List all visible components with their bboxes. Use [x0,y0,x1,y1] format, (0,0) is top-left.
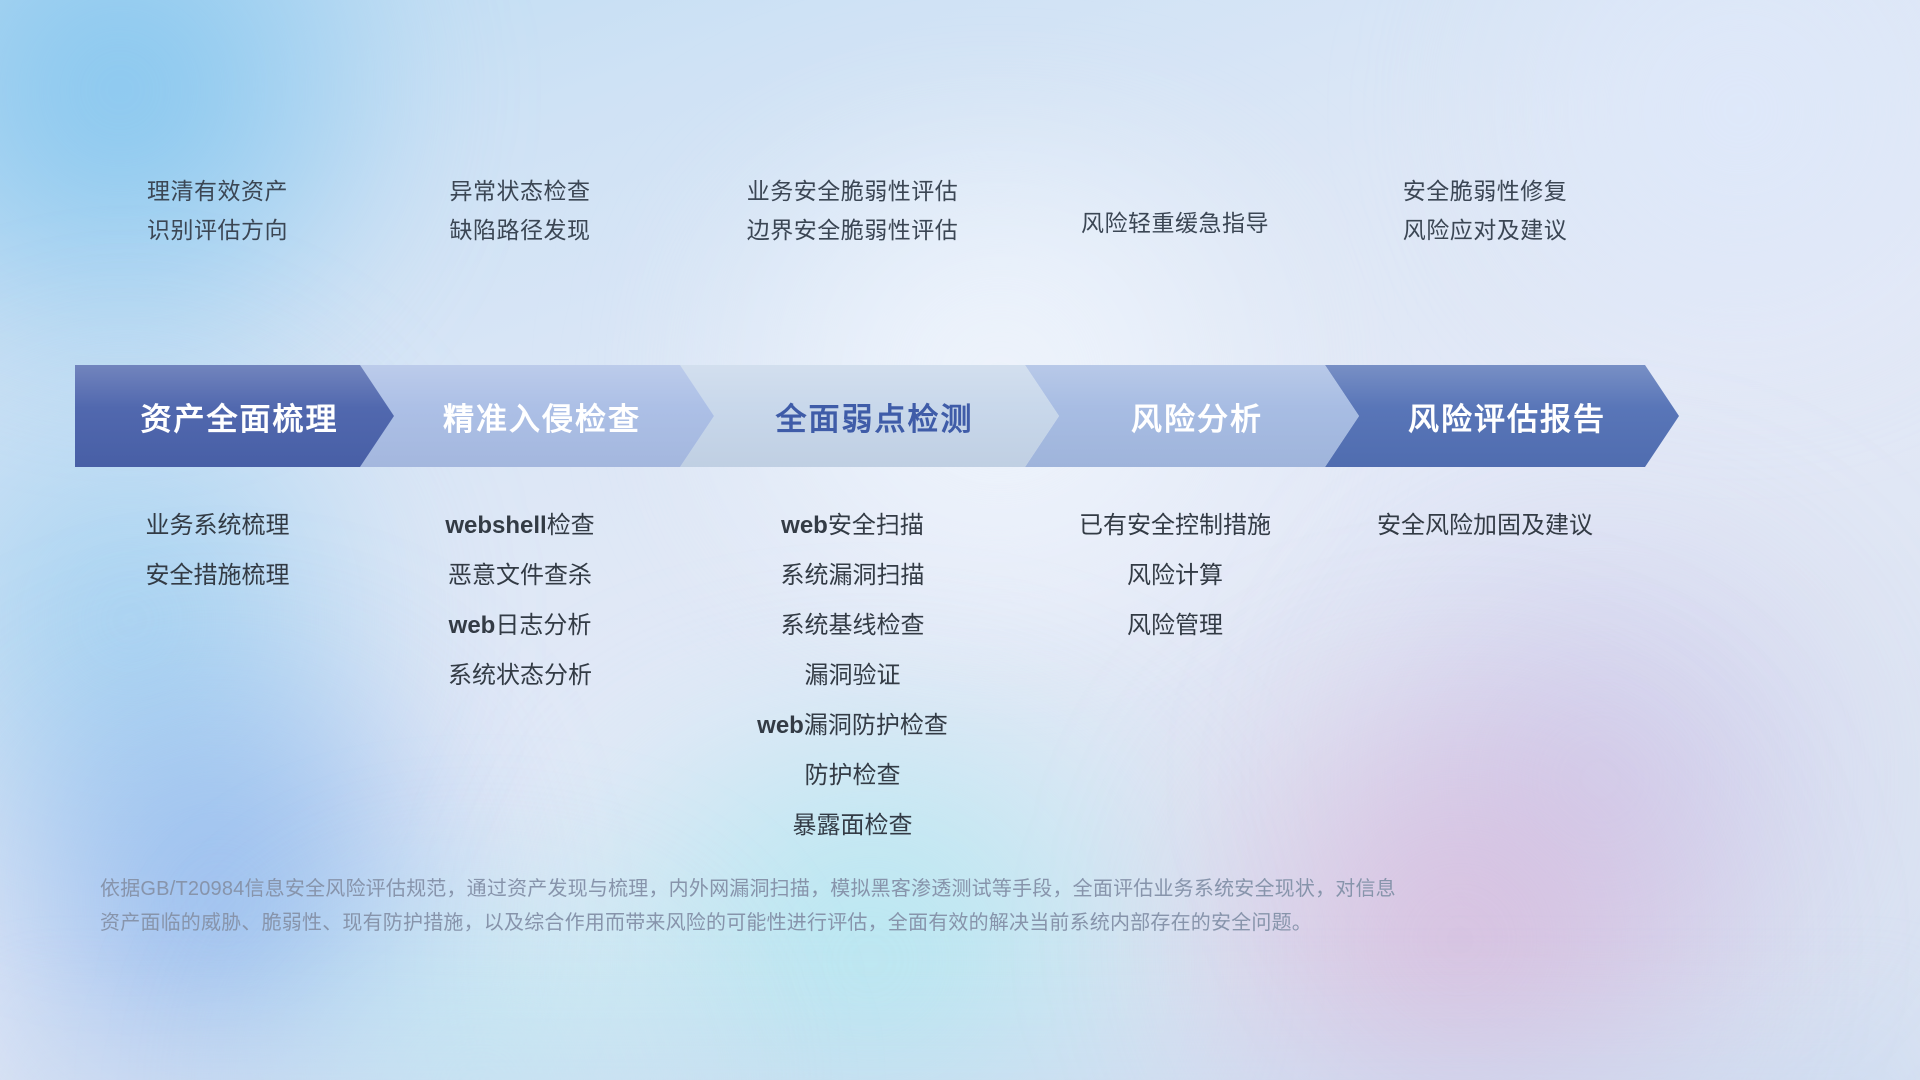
top-item: 边界安全脆弱性评估 [747,219,959,242]
bottom-item-text: 漏洞防护检查 [804,712,948,739]
stage-label: 精准入侵检查 [443,394,641,439]
top-item: 业务安全脆弱性评估 [747,180,959,203]
bottom-item: 业务系统梳理 [146,514,290,538]
bottom-item: 已有安全控制措施 [1079,514,1271,538]
bottom-item-text: 检查 [547,512,595,539]
footer-line-2: 资产面临的威胁、脆弱性、现有防护措施，以及综合作用而带来风险的可能性进行评估，全… [100,906,1610,940]
bottom-item-latin: web [449,612,496,639]
top-items-risk-analysis: 风险轻重缓急指导 [1025,176,1325,286]
process-diagram: 理清有效资产识别评估方向异常状态检查缺陷路径发现业务安全脆弱性评估边界安全脆弱性… [0,0,1920,1080]
top-item: 风险轻重缓急指导 [1081,212,1269,235]
bottom-item: web漏洞防护检查 [757,714,948,738]
bottom-item-text: 安全扫描 [828,512,924,539]
bottom-item-latin: web [757,712,804,739]
bottom-item-latin: webshell [445,512,546,539]
top-items-intrusion-check: 异常状态检查缺陷路径发现 [360,176,680,286]
bottom-item: 暴露面检查 [793,814,913,838]
bottom-items-asset-inventory: 业务系统梳理安全措施梳理 [75,508,360,588]
bottom-item: 安全风险加固及建议 [1377,514,1593,538]
stage-chevron-risk-report[interactable]: 风险评估报告 [1325,365,1679,467]
top-items-row: 理清有效资产识别评估方向异常状态检查缺陷路径发现业务安全脆弱性评估边界安全脆弱性… [75,176,1845,286]
stage-label: 资产全面梳理 [141,394,339,439]
bottom-item: 安全措施梳理 [146,564,290,588]
bottom-item: web日志分析 [449,614,592,638]
top-item: 安全脆弱性修复 [1403,180,1568,203]
top-item: 风险应对及建议 [1403,219,1568,242]
top-item: 异常状态检查 [450,180,591,203]
bottom-item: 系统基线检查 [781,614,925,638]
top-item: 缺陷路径发现 [450,219,591,242]
bottom-item: 漏洞验证 [805,664,901,688]
bottom-items-row: 业务系统梳理安全措施梳理webshell检查恶意文件查杀web日志分析系统状态分… [75,508,1845,838]
top-items-weakness-detection: 业务安全脆弱性评估边界安全脆弱性评估 [680,176,1025,286]
bottom-item: 恶意文件查杀 [448,564,592,588]
bottom-item: 系统漏洞扫描 [781,564,925,588]
bottom-items-intrusion-check: webshell检查恶意文件查杀web日志分析系统状态分析 [360,508,680,688]
bottom-item: 系统状态分析 [448,664,592,688]
bottom-items-weakness-detection: web安全扫描系统漏洞扫描系统基线检查漏洞验证web漏洞防护检查防护检查暴露面检… [680,508,1025,838]
stage-chevron-band: 资产全面梳理精准入侵检查全面弱点检测风险分析风险评估报告 [75,365,1845,467]
top-item: 识别评估方向 [147,219,288,242]
top-items-asset-inventory: 理清有效资产识别评估方向 [75,176,360,286]
stage-chevron-intrusion-check[interactable]: 精准入侵检查 [360,365,714,467]
bottom-items-risk-report: 安全风险加固及建议 [1325,508,1645,538]
bottom-item-latin: web [781,512,828,539]
bottom-item: webshell检查 [445,514,594,538]
bottom-item: 风险管理 [1127,614,1223,638]
stage-chevron-asset-inventory[interactable]: 资产全面梳理 [75,365,394,467]
stage-chevron-risk-analysis[interactable]: 风险分析 [1025,365,1359,467]
stage-label: 风险评估报告 [1408,394,1606,439]
footer-line-1: 依据GB/T20984信息安全风险评估规范，通过资产发现与梳理，内外网漏洞扫描，… [100,872,1610,906]
bottom-item: 防护检查 [805,764,901,788]
stage-label: 全面弱点检测 [776,394,974,439]
stage-chevron-weakness-detection[interactable]: 全面弱点检测 [680,365,1059,467]
bottom-item-text: 日志分析 [495,612,591,639]
top-items-risk-report: 安全脆弱性修复风险应对及建议 [1325,176,1645,286]
stage-label: 风险分析 [1131,394,1263,439]
top-item: 理清有效资产 [147,180,288,203]
bottom-item: web安全扫描 [781,514,924,538]
footer-description: 依据GB/T20984信息安全风险评估规范，通过资产发现与梳理，内外网漏洞扫描，… [100,872,1610,940]
bottom-item: 风险计算 [1127,564,1223,588]
bottom-items-risk-analysis: 已有安全控制措施风险计算风险管理 [1025,508,1325,638]
